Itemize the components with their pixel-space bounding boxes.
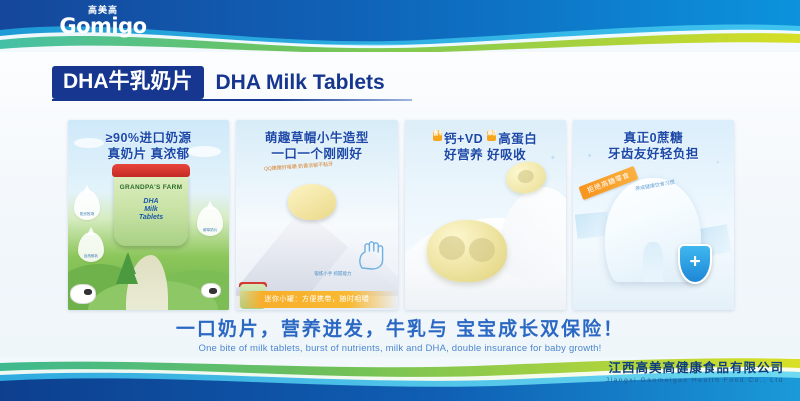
panel-3-text-calcium: 钙+VD [444,132,483,146]
title-subtitle-en: DHA Milk Tablets [216,71,385,95]
jar-brand-text: GRANDPA'S FARM [114,184,188,191]
jar-line-dha: DHA [143,198,158,205]
panel-3-headline-line2: 好营养 好吸收 [405,147,566,163]
drop-label: 自然鲜乳 [78,254,104,259]
tablet-shape-large [427,220,507,282]
panel-3-text-protein: 高蛋白 [498,132,537,146]
footer-company-cn: 江西高美高健康食品有限公司 [606,361,784,376]
jar-lid [112,164,190,177]
tooth-notch [643,242,663,282]
slogan-block: 一口奶片，营养迸发，牛乳与 宝宝成长双保险！ One bite of milk … [0,318,800,356]
panel-3-badge-1: 含有 [433,130,442,141]
panel-1-headline-line2: 真奶片 真浓郁 [68,146,229,162]
section-title: DHA牛乳奶片 DHA Milk Tablets [52,66,385,99]
footer-banner: 江西高美高健康食品有限公司 Jiangxi Gaomeigao Health F… [0,357,800,401]
slogan-cn: 一口奶片，营养迸发，牛乳与 宝宝成长双保险！ [0,318,800,342]
cow-illustration [201,283,221,298]
drop-label: 鲜萃奶片 [197,228,223,233]
panel-calcium-protein[interactable]: ✦ 含有钙+VD 添加高蛋白 好营养 好吸收 [405,120,566,310]
plus-shield-icon: + [678,244,712,284]
panel-3-headline-line1: 含有钙+VD 添加高蛋白 [405,130,566,147]
cow-face-emboss [439,236,465,260]
panel-3-badge-2: 添加 [487,130,496,141]
hand-icon [356,240,390,270]
panel-1-headline-line1: ≥90%进口奶源 [68,130,229,146]
feature-drop-badge: 阳光牧场 [74,190,100,220]
cow-illustration [70,284,96,304]
panel-3-headline: 含有钙+VD 添加高蛋白 好营养 好吸收 [405,130,566,163]
poster-root: 高美高 Gomigo DHA牛乳奶片 DHA Milk Tablets GRAN… [0,0,800,401]
panel-imported-milk-source[interactable]: GRANDPA'S FARM DHA Milk Tablets 阳光牧场 自然鲜… [68,120,229,310]
brand-logo-en: Gomigo [48,15,158,37]
drop-label: 阳光牧场 [74,212,100,217]
footer-company-en: Jiangxi Gaomeigao Health Food Co., Ltd [606,376,784,386]
panel-2-hand-note: 锻炼小手 抓握能力 [314,271,351,277]
panel-4-headline-line1: 真正0蔗糖 [573,130,734,146]
plus-glyph: + [689,252,700,271]
tree-icon [120,252,136,274]
brand-logo: 高美高 Gomigo [48,5,158,37]
jar-line-tablets: Tablets [139,214,163,221]
cow-face-emboss [516,169,534,185]
panel-4-headline: 真正0蔗糖 牙齿友好轻负担 [573,130,734,162]
feature-drop-badge: 自然鲜乳 [78,232,104,262]
title-underline [52,99,412,101]
footer-company: 江西高美高健康食品有限公司 Jiangxi Gaomeigao Health F… [606,361,784,386]
feature-panels: GRANDPA'S FARM DHA Milk Tablets 阳光牧场 自然鲜… [68,120,734,310]
panel-zero-sucrose[interactable]: + 拒绝高糖零食 养成健康饮食习惯 ✦ ✦ 真正0蔗糖 牙齿友好轻负担 [573,120,734,310]
cow-face-emboss [469,238,495,262]
header-banner: 高美高 Gomigo [0,0,800,52]
slogan-en: One bite of milk tablets, burst of nutri… [0,342,800,356]
panel-2-top-note: QQ嫩嫩好咀嚼 奶香浓郁不粘牙 [264,162,333,173]
panel-2-headline: 萌趣草帽小牛造型 一口一个刚刚好 [236,130,397,162]
jar-line-milk: Milk [144,206,158,213]
feature-drop-badge: 鲜萃奶片 [197,206,223,236]
panel-cow-hat-shape[interactable]: QQ嫩嫩好咀嚼 奶香浓郁不粘牙 锻炼小手 抓握能力 迷你小罐：方便携带，随时咀嚼… [236,120,397,310]
product-jar: GRANDPA'S FARM DHA Milk Tablets [114,172,188,246]
panel-1-headline: ≥90%进口奶源 真奶片 真浓郁 [68,130,229,162]
tablet-shape [288,184,336,220]
panel-2-headline-line1: 萌趣草帽小牛造型 [236,130,397,146]
panel-2-bottom-banner: 迷你小罐：方便携带，随时咀嚼 [236,291,397,308]
jar-product-text: DHA Milk Tablets [114,198,188,222]
panel-2-headline-line2: 一口一个刚刚好 [236,146,397,162]
title-badge-cn: DHA牛乳奶片 [52,66,204,99]
panel-4-headline-line2: 牙齿友好轻负担 [573,146,734,162]
